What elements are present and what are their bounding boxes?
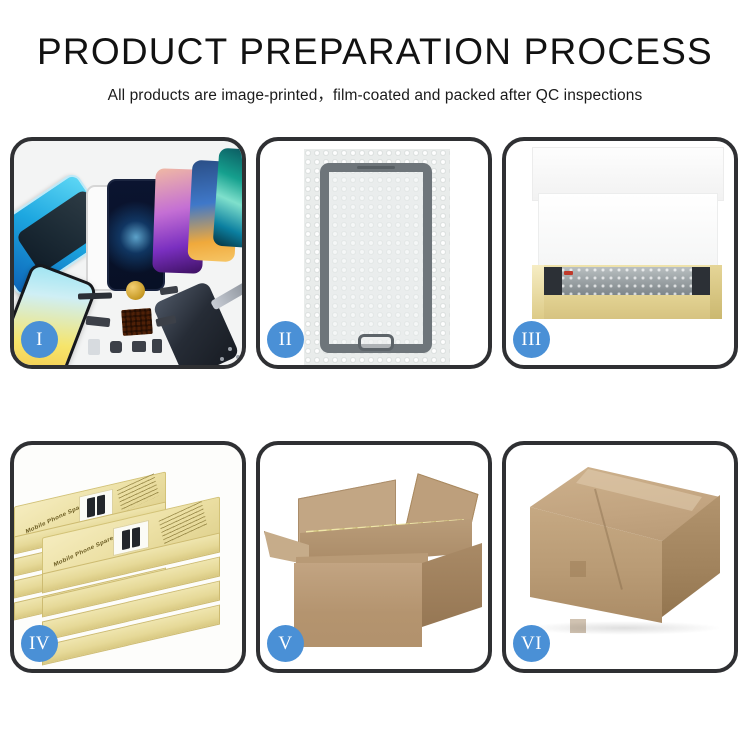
product-preparation-infographic: PRODUCT PREPARATION PROCESS All products… (0, 0, 750, 750)
battery-connector-part (110, 341, 122, 353)
earpiece-slot (357, 166, 395, 169)
process-step-5[interactable]: V (256, 441, 492, 673)
bubble-wrap-sheet (304, 149, 450, 365)
process-step-1[interactable]: I (10, 137, 246, 369)
step-badge-6: VI (513, 625, 550, 662)
step-badge-3: III (513, 321, 550, 358)
page-title: PRODUCT PREPARATION PROCESS (0, 33, 750, 72)
process-step-6[interactable]: VI (502, 441, 738, 673)
qc-red-mark (564, 271, 573, 275)
carton-handle-slot-top (570, 561, 586, 577)
carton-front-face (294, 563, 422, 647)
screw-part (220, 357, 224, 361)
vibration-motor-part (126, 281, 145, 300)
step-badge-2: II (267, 321, 304, 358)
screw-part (236, 355, 240, 359)
small-bracket-part (88, 339, 100, 355)
process-step-grid: I II (10, 137, 740, 673)
foam-insert (538, 193, 718, 273)
process-step-3[interactable]: III (502, 137, 738, 369)
header: PRODUCT PREPARATION PROCESS All products… (0, 0, 750, 105)
step-badge-5: V (267, 625, 304, 662)
chip-array-part (121, 308, 153, 336)
screen-edge-left (544, 267, 562, 295)
flex-cable-part (78, 292, 112, 299)
process-step-4[interactable]: Mobile Phone Spare Parts Mobile Phone Sp… (10, 441, 246, 673)
process-step-2[interactable]: II (256, 137, 492, 369)
tweezers-tool (210, 282, 242, 311)
step-badge-1: I (21, 321, 58, 358)
charging-port-part (132, 341, 146, 352)
camera-module-part (86, 316, 111, 327)
page-subtitle: All products are image-printed，film-coat… (0, 83, 750, 105)
sim-tray-part (152, 339, 162, 353)
wrapped-screen-glass (320, 163, 432, 353)
step-badge-4: IV (21, 625, 58, 662)
screen-edge-right (692, 267, 710, 295)
screw-part (228, 347, 232, 351)
box-lip-right (710, 265, 722, 319)
carton-shadow (526, 621, 722, 635)
box-lip-left (532, 265, 544, 319)
